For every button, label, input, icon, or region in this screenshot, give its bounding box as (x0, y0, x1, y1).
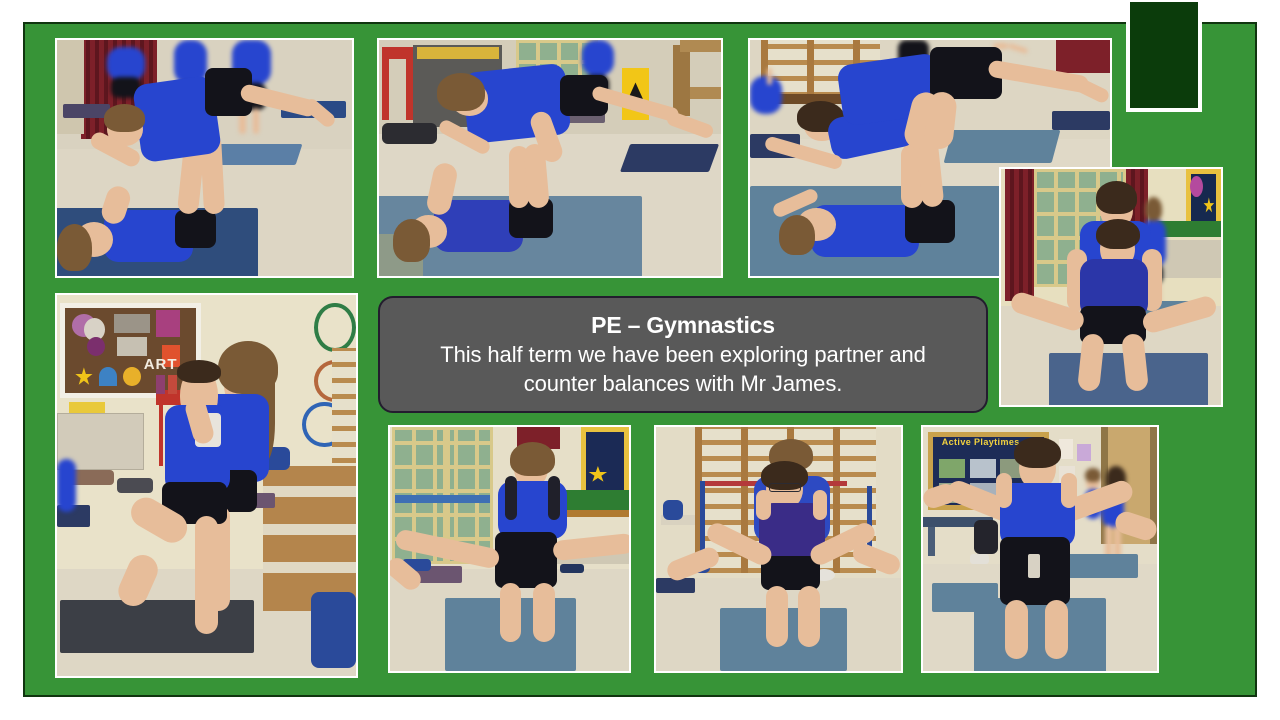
photo-6[interactable] (388, 425, 631, 673)
caption-box: PE – Gymnastics This half term we have b… (378, 296, 988, 413)
photo-4[interactable] (999, 167, 1223, 407)
photo-2-scene (379, 40, 721, 276)
photo-5[interactable]: ART (55, 293, 358, 678)
photo-2[interactable] (377, 38, 723, 278)
slide-canvas: ART (0, 0, 1280, 720)
photo-7-scene (656, 427, 901, 671)
photo-8-scene: Active Playtimes (923, 427, 1157, 671)
caption-line-2: counter balances with Mr James. (524, 369, 842, 398)
caption-line-1: This half term we have been exploring pa… (440, 340, 926, 369)
photo-1[interactable] (55, 38, 354, 278)
foreground-mat (974, 598, 1105, 671)
photo-4-scene (1001, 169, 1221, 405)
photo-5-scene: ART (57, 295, 356, 676)
storage-trays (557, 490, 629, 510)
photo-6-scene (390, 427, 629, 671)
wall-display-board (581, 427, 629, 500)
photo-8[interactable]: Active Playtimes (921, 425, 1159, 673)
glasses-icon (769, 483, 801, 492)
hoops (314, 303, 356, 353)
decorative-corner-box (1126, 0, 1202, 112)
photo-7[interactable] (654, 425, 903, 673)
photo-1-scene (57, 40, 352, 276)
red-curtain-left (1005, 169, 1034, 301)
caption-title: PE – Gymnastics (591, 311, 775, 340)
